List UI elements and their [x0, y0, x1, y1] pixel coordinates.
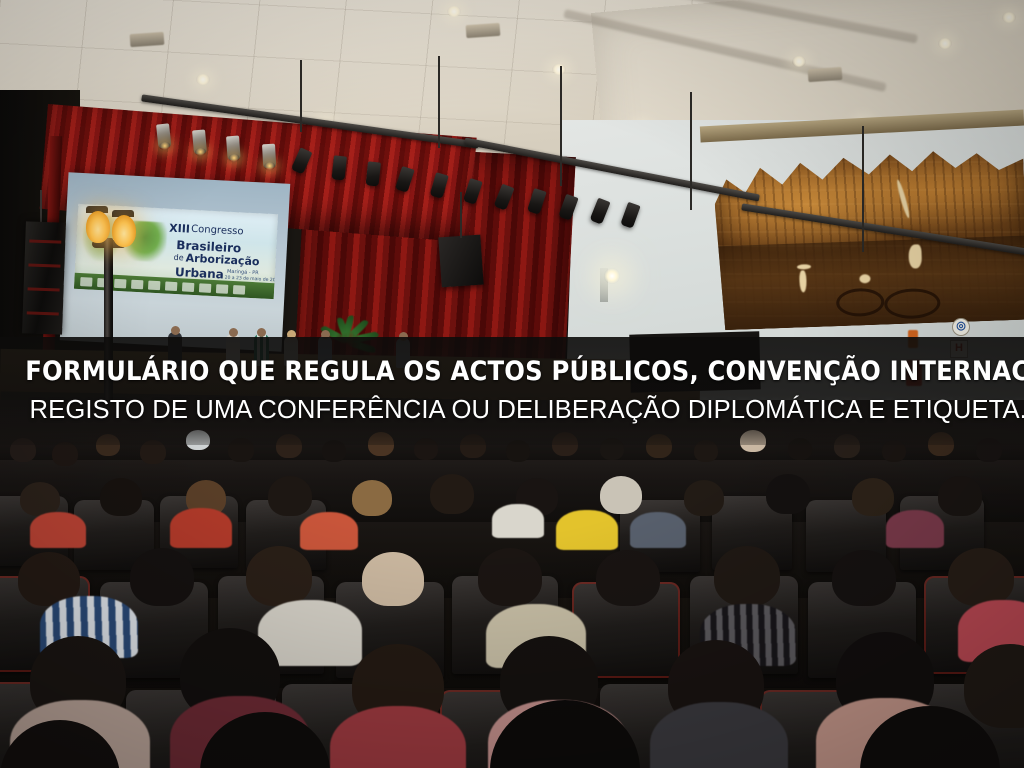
stage-spotlight — [192, 129, 207, 154]
ceiling-downlight — [447, 6, 461, 17]
stage-spotlight — [366, 161, 381, 186]
audience-head-grey — [600, 476, 642, 514]
lamp-globe-icon — [86, 211, 110, 243]
mural-bird-icon — [908, 244, 922, 268]
line-array-speaker — [22, 221, 66, 334]
audience-shirt — [492, 504, 544, 538]
wall-sign-circle-icon: ◎ — [952, 318, 970, 336]
sponsor-logo — [131, 279, 143, 289]
truss-hang-rod — [560, 66, 562, 186]
mural-heron-icon — [799, 270, 807, 292]
stage-spotlight — [262, 144, 276, 169]
truss-hang-rod — [438, 56, 440, 148]
audience-head — [714, 546, 780, 606]
audience-shirt — [630, 512, 686, 548]
sponsor-logo — [165, 281, 177, 291]
audience-shirt — [300, 512, 358, 550]
audience-head — [100, 478, 142, 516]
audience-head — [938, 476, 982, 516]
audience-area — [0, 400, 1024, 768]
banner-de: de — [173, 254, 183, 263]
audience-head — [852, 478, 894, 516]
ceiling-downlight — [792, 56, 806, 67]
banner-roman-numeral: XIII — [169, 223, 190, 235]
audience-shoulders — [650, 702, 788, 768]
speaker-cell — [28, 287, 60, 291]
audience-head — [130, 548, 194, 606]
stage-spotlight — [332, 155, 347, 180]
truss-hang-rod — [862, 126, 864, 252]
caption-line-1: FORMULÁRIO QUE REGULA OS ACTOS PÚBLICOS,… — [0, 356, 922, 387]
audience-head — [246, 546, 312, 606]
audience-head — [766, 474, 810, 514]
caption-overlay-band: FORMULÁRIO QUE REGULA OS ACTOS PÚBLICOS,… — [0, 337, 1024, 445]
banner-congress-word: Congresso — [191, 225, 244, 238]
audience-shirt — [886, 510, 944, 548]
lamp-globe-icon — [112, 215, 136, 247]
sponsor-logo — [182, 282, 194, 292]
truss-hang-rod — [690, 92, 692, 210]
caption-line-2: REGISTO DE UMA CONFERÊNCIA OU DELIBERAÇÃ… — [0, 394, 1009, 425]
speaker-cell — [29, 239, 61, 243]
audience-head — [52, 442, 78, 466]
sponsor-logo — [148, 280, 160, 290]
mural-water-area — [716, 236, 1024, 331]
audience-shirt — [30, 512, 86, 548]
audience-shirt — [556, 510, 618, 550]
speaker-hang-rod — [460, 192, 462, 238]
audience-head — [352, 480, 392, 516]
audience-head — [20, 482, 60, 516]
audience-head — [430, 474, 474, 514]
sponsor-logo — [114, 278, 126, 288]
audience-head — [596, 550, 660, 606]
stage-spotlight — [226, 136, 241, 161]
audience-head — [268, 476, 312, 516]
audience-shirt — [170, 508, 232, 548]
stage-person-head — [229, 328, 238, 337]
ceiling-downlight — [1002, 12, 1016, 23]
hanging-speaker — [438, 235, 483, 288]
sponsor-logo — [216, 284, 228, 294]
wall-sconce-bulb-icon — [604, 268, 620, 284]
speaker-cell — [27, 311, 59, 315]
sponsor-logo — [233, 285, 245, 295]
audience-head — [948, 548, 1014, 606]
audience-head — [832, 550, 896, 606]
ceiling-fixture — [808, 67, 843, 82]
ceiling-downlight — [196, 74, 210, 85]
sponsor-logo — [80, 277, 92, 287]
speaker-rigging — [40, 190, 42, 224]
speaker-cell — [28, 263, 60, 267]
ceiling-downlight — [938, 38, 952, 49]
ceiling-fixture — [466, 23, 501, 38]
stage-person-head — [257, 328, 266, 337]
truss-hang-rod — [300, 60, 302, 132]
ceiling-fixture — [130, 32, 165, 47]
audience-head — [478, 548, 542, 606]
audience-head — [684, 480, 724, 516]
stage-spotlight — [156, 123, 171, 148]
sponsor-logo — [199, 283, 211, 293]
slide-canvas: ◎ H XIII Congresso Brasileiro de Arboriz… — [0, 0, 1024, 768]
ceiling-downlight — [552, 64, 566, 75]
audience-head — [362, 552, 424, 606]
stage-person-head — [171, 326, 180, 335]
